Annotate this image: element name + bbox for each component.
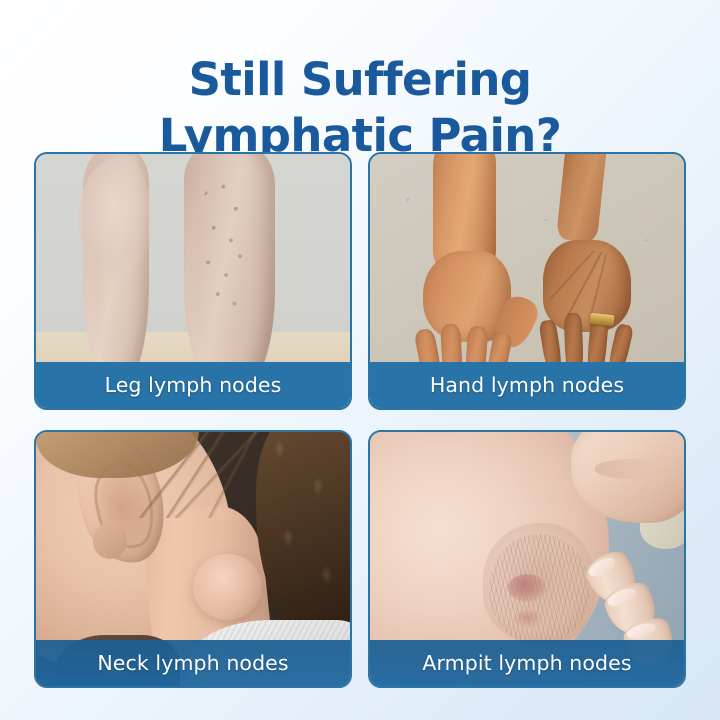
card-armpit-lymph-nodes[interactable]: Armpit lymph nodes [368, 430, 686, 688]
poster: Still Suffering Lymphatic Pain? Leg lymp… [0, 0, 720, 720]
hand-normal-veins [549, 251, 624, 317]
armpit-swollen-node [508, 574, 546, 602]
neck-swollen-node [193, 554, 262, 620]
card-caption-hand: Hand lymph nodes [370, 362, 684, 408]
page-title: Still Suffering Lymphatic Pain? [0, 52, 720, 164]
card-hand-lymph-nodes[interactable]: Hand lymph nodes [368, 152, 686, 410]
card-caption-leg: Leg lymph nodes [36, 362, 350, 408]
card-neck-lymph-nodes[interactable]: Neck lymph nodes [34, 430, 352, 688]
card-caption-neck-label: Neck lymph nodes [97, 651, 288, 675]
card-caption-armpit: Armpit lymph nodes [370, 640, 684, 686]
card-caption-leg-label: Leg lymph nodes [105, 373, 282, 397]
card-caption-armpit-label: Armpit lymph nodes [422, 651, 631, 675]
card-leg-lymph-nodes[interactable]: Leg lymph nodes [34, 152, 352, 410]
hair-strands [130, 432, 262, 518]
card-caption-neck: Neck lymph nodes [36, 640, 350, 686]
ear-lobe [93, 523, 128, 559]
leg-swollen-mottling [193, 174, 262, 331]
card-caption-hand-label: Hand lymph nodes [430, 373, 624, 397]
page-title-line-1: Still Suffering [0, 52, 720, 108]
leg-normal-calf-highlight [78, 159, 153, 281]
armpit-secondary-node [514, 610, 542, 628]
lymph-node-card-grid: Leg lymph nodes [34, 152, 686, 688]
